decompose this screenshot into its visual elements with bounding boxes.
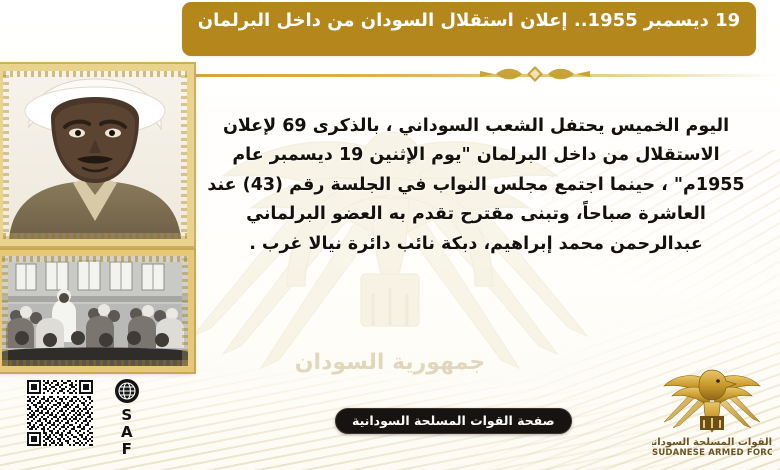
header-title: 19 ديسمبر 1955.. إعلان استقلال السودان م…	[182, 2, 756, 56]
saf-letter-f: F	[110, 441, 144, 458]
divider-ornament-icon	[470, 62, 600, 86]
saf-initials: S A F	[110, 407, 144, 457]
article-body: اليوم الخميس يحتفل الشعب السوداني ، بالذ…	[198, 112, 754, 259]
portrait-photo-frame	[0, 64, 194, 246]
portrait-photo	[3, 71, 187, 239]
saf-logo-arabic: القوات المسلحة السودانية	[652, 437, 772, 448]
page-credit-badge: صفحة القوات المسلحة السودانية	[335, 408, 572, 434]
qr-code[interactable]	[27, 380, 93, 446]
saf-watermark: S A F	[110, 378, 144, 457]
watermark-text: جمهورية السودان	[295, 350, 485, 375]
poster-canvas: جمهورية السودان 19 ديسمبر 1955.. إعلان ا…	[0, 0, 780, 470]
parliament-photo	[2, 256, 188, 366]
saf-letter-s: S	[110, 407, 144, 424]
saf-logo-english: SUDANESE ARMED FORCES	[652, 448, 772, 458]
saf-logo: القوات المسلحة السودانية SUDANESE ARMED …	[652, 362, 772, 458]
saf-letter-a: A	[110, 424, 144, 441]
saf-emblem-icon	[660, 362, 764, 436]
parliament-photo-frame	[0, 250, 194, 372]
globe-icon	[114, 378, 140, 404]
